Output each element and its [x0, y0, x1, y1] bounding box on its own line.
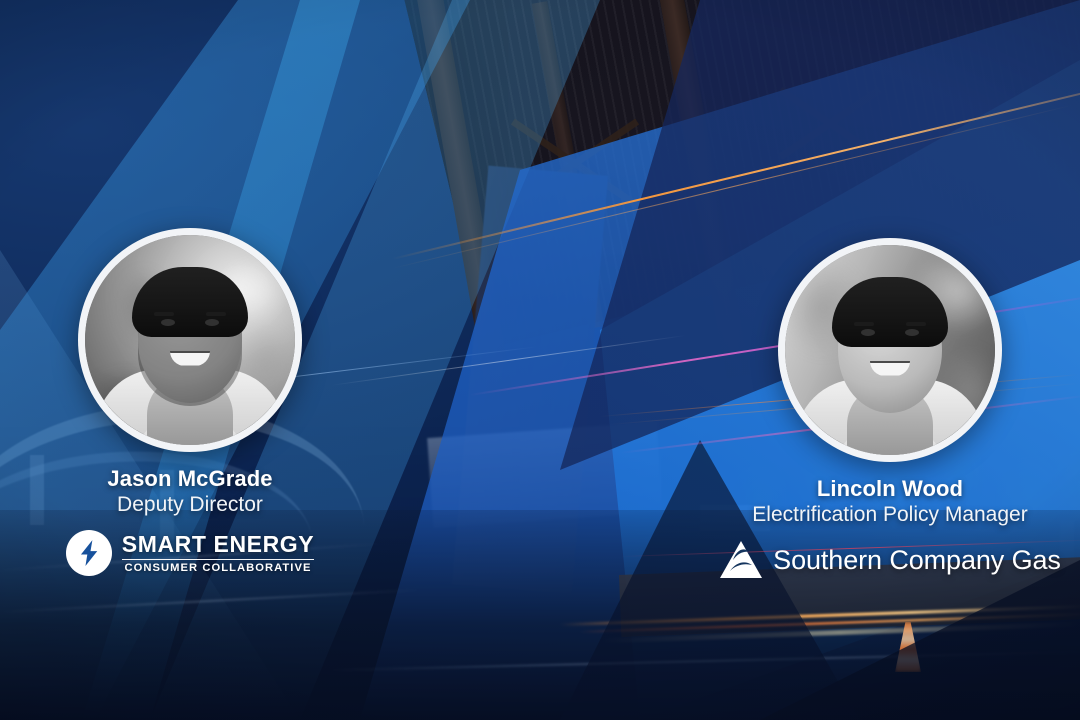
- avatar: [78, 228, 302, 452]
- lightning-bolt-circle-icon: [66, 530, 112, 576]
- avatar: [778, 238, 1002, 462]
- speaker-name: Lincoln Wood: [700, 476, 1080, 501]
- portrait-eye: [861, 329, 875, 336]
- speaker-card-jason-mcgrade: Jason McGrade Deputy Director SMART ENER…: [0, 228, 380, 576]
- organization-logo-southern-company-gas: Southern Company Gas: [700, 540, 1080, 580]
- portrait-illustration: [85, 235, 295, 445]
- speaker-name: Jason McGrade: [0, 466, 380, 491]
- speaker-banner: Jason McGrade Deputy Director SMART ENER…: [0, 0, 1080, 720]
- speaker-title: Electrification Policy Manager: [700, 502, 1080, 527]
- speaker-card-lincoln-wood: Lincoln Wood Electrification Policy Mana…: [700, 238, 1080, 580]
- portrait-eyebrow: [906, 322, 926, 326]
- secc-wordmark: SMART ENERGY CONSUMER COLLABORATIVE: [122, 533, 315, 575]
- southern-company-triangle-icon: [719, 540, 763, 580]
- avatar-photo-lincoln-wood: [785, 245, 995, 455]
- scg-wordmark: Southern Company Gas: [773, 545, 1061, 576]
- portrait-eyebrow: [854, 322, 874, 326]
- avatar-photo-jason-mcgrade: [85, 235, 295, 445]
- portrait-illustration: [785, 245, 995, 455]
- speaker-title: Deputy Director: [0, 492, 380, 517]
- portrait-eye: [161, 319, 175, 326]
- secc-divider-rule: [122, 559, 315, 561]
- portrait-eyebrow: [206, 312, 226, 316]
- organization-logo-secc: SMART ENERGY CONSUMER COLLABORATIVE: [0, 530, 380, 576]
- portrait-eyebrow: [154, 312, 174, 316]
- secc-line2: CONSUMER COLLABORATIVE: [122, 563, 315, 574]
- secc-line1: SMART ENERGY: [122, 533, 315, 556]
